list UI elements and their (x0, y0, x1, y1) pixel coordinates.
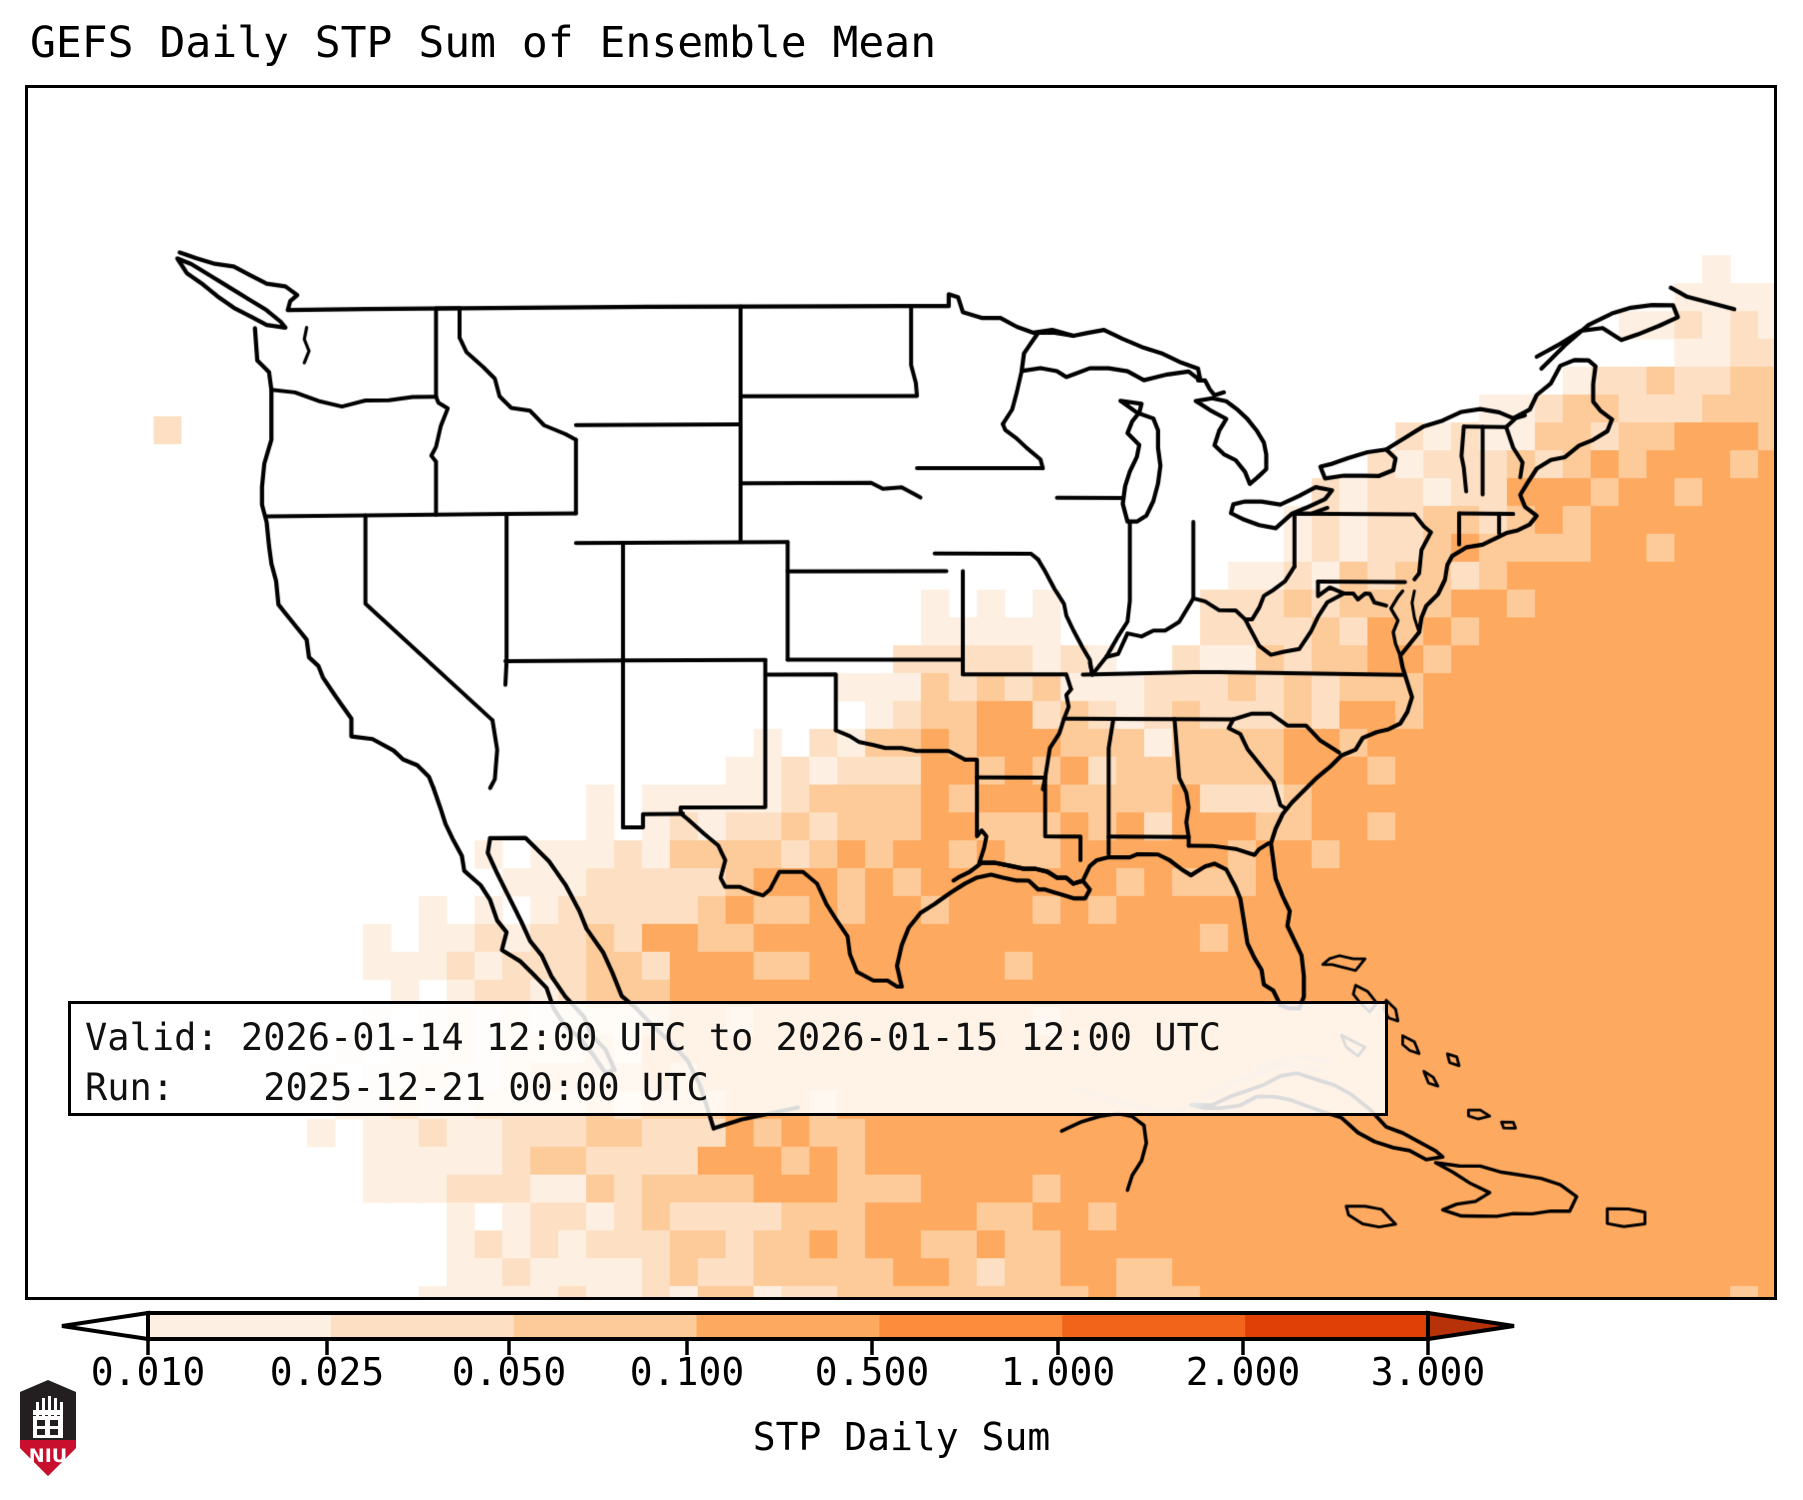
info-run-line: Run: 2025-12-21 00:00 UTC (85, 1063, 1385, 1113)
colorbar-axis-label: STP Daily Sum (0, 1415, 1803, 1459)
colorbar-tick-1: 0.025 (270, 1350, 384, 1394)
colorbar-tick-6: 2.000 (1186, 1350, 1300, 1394)
niu-logo: NIU (16, 1378, 80, 1478)
colorbar-tick-7: 3.000 (1371, 1350, 1485, 1394)
info-box: Valid: 2026-01-14 12:00 UTC to 2026-01-1… (68, 1001, 1388, 1116)
colorbar-tick-3: 0.100 (630, 1350, 744, 1394)
colorbar-tick-5: 1.000 (1001, 1350, 1115, 1394)
colorbar-tick-4: 0.500 (815, 1350, 929, 1394)
info-valid-line: Valid: 2026-01-14 12:00 UTC to 2026-01-1… (85, 1013, 1385, 1063)
colorbar: 0.0100.0250.0500.1000.5001.0002.0003.000… (0, 1305, 1803, 1500)
colorbar-tick-0: 0.010 (91, 1350, 205, 1394)
map-frame: Valid: 2026-01-14 12:00 UTC to 2026-01-1… (25, 85, 1777, 1300)
colorbar-tick-2: 0.050 (452, 1350, 566, 1394)
niu-logo-text: NIU (29, 1445, 67, 1467)
page-title: GEFS Daily STP Sum of Ensemble Mean (30, 18, 936, 68)
